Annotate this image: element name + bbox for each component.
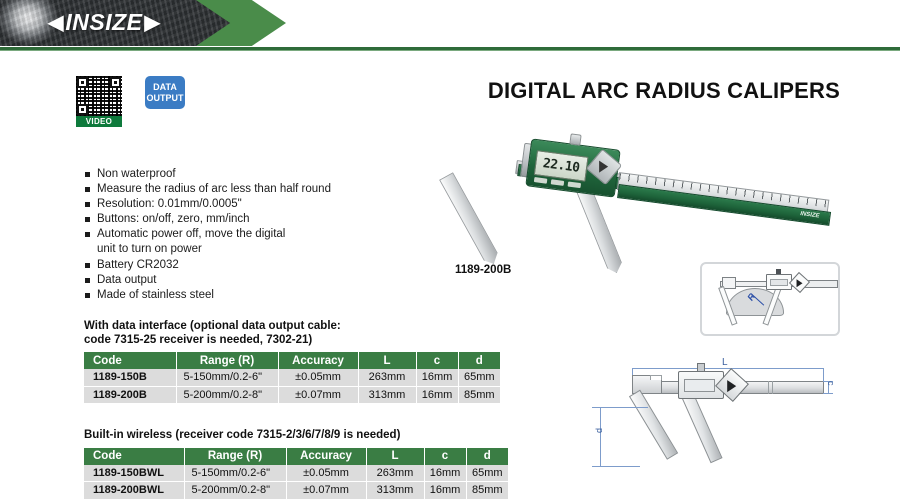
- cell-l: 313mm: [366, 482, 424, 499]
- caliper-button-unit: [568, 181, 582, 188]
- column-header-d: d: [466, 448, 508, 465]
- cell-code: 1189-150B: [84, 369, 176, 386]
- column-header-accuracy: Accuracy: [286, 448, 366, 465]
- cell-d: 85mm: [458, 386, 500, 403]
- spec-table: Code Range (R) Accuracy L c d 1189-150B …: [84, 352, 500, 403]
- logo-arrow-left-icon: ◀: [48, 13, 63, 33]
- data-output-line1: DATA: [153, 82, 177, 93]
- qr-video-label: VIDEO: [86, 118, 112, 126]
- cell-accuracy: ±0.05mm: [278, 369, 358, 386]
- column-header-c: c: [416, 352, 458, 369]
- caliper-lock-knob: [569, 133, 581, 145]
- qr-code-icon: [76, 76, 122, 116]
- column-header-range: Range (R): [184, 448, 286, 465]
- logo-arrow-right-icon: ▶: [145, 13, 160, 33]
- cell-code: 1189-200B: [84, 386, 176, 403]
- dim-jaw-left: [629, 390, 678, 460]
- spec-table: Code Range (R) Accuracy L c d 1189-150BW…: [84, 448, 508, 499]
- data-output-badge: DATA OUTPUT: [145, 76, 185, 109]
- caliper-button-zero: [551, 179, 565, 186]
- column-header-c: c: [424, 448, 466, 465]
- list-item: Non waterproof: [84, 167, 384, 182]
- cell-accuracy: ±0.07mm: [278, 386, 358, 403]
- cell-code: 1189-200BWL: [84, 482, 184, 499]
- list-item: Battery CR2032: [84, 258, 384, 273]
- cell-l: 313mm: [358, 386, 416, 403]
- cell-range: 5-150mm/0.2-6": [184, 465, 286, 482]
- usage-thumb-roller: [789, 272, 810, 293]
- column-header-d: d: [458, 352, 500, 369]
- dim-d-label: d: [594, 428, 604, 433]
- spec-table-block-data-interface: With data interface (optional data outpu…: [84, 320, 500, 403]
- table-caption: With data interface (optional data outpu…: [84, 320, 500, 347]
- cell-range: 5-200mm/0.2-8": [184, 482, 286, 499]
- table-header-row: Code Range (R) Accuracy L c d: [84, 352, 500, 369]
- list-item: Measure the radius of arc less than half…: [84, 182, 384, 197]
- cell-l: 263mm: [366, 465, 424, 482]
- cell-c: 16mm: [416, 386, 458, 403]
- cell-d: 65mm: [458, 369, 500, 386]
- cell-c: 16mm: [424, 482, 466, 499]
- dim-c-label: c: [826, 381, 836, 386]
- cell-range: 5-150mm/0.2-6": [176, 369, 278, 386]
- dim-jaw-right: [681, 390, 723, 463]
- badge-group: VIDEO DATA OUTPUT: [76, 76, 185, 127]
- caliper-jaw-left: [439, 172, 501, 267]
- qr-eye-bottom-left: [77, 104, 88, 115]
- cell-range: 5-200mm/0.2-8": [176, 386, 278, 403]
- column-header-range: Range (R): [176, 352, 278, 369]
- usage-lock-knob: [776, 269, 781, 274]
- list-item: Made of stainless steel: [84, 288, 384, 303]
- list-item: Resolution: 0.01mm/0.0005": [84, 197, 384, 212]
- list-item: Data output: [84, 273, 384, 288]
- table-caption: Built-in wireless (receiver code 7315-2/…: [84, 429, 508, 443]
- column-header-accuracy: Accuracy: [278, 352, 358, 369]
- dim-d-tick-top: [592, 407, 648, 408]
- page-title: DIGITAL ARC RADIUS CALIPERS: [488, 78, 840, 104]
- table-row: 1189-200BWL 5-200mm/0.2-8" ±0.07mm 313mm…: [84, 482, 508, 499]
- qr-video-label-bar: VIDEO: [76, 116, 122, 127]
- spec-table-block-wireless: Built-in wireless (receiver code 7315-2/…: [84, 429, 508, 499]
- table-row: 1189-200B 5-200mm/0.2-8" ±0.07mm 313mm 1…: [84, 386, 500, 403]
- cell-c: 16mm: [416, 369, 458, 386]
- dim-d-tick-bottom: [592, 466, 640, 467]
- feature-list: Non waterproof Measure the radius of arc…: [84, 167, 384, 303]
- dim-l-line: [632, 368, 824, 369]
- caliper-button-onoff: [534, 177, 548, 184]
- cell-accuracy: ±0.07mm: [286, 482, 366, 499]
- table-row: 1189-150B 5-150mm/0.2-6" ±0.05mm 263mm 1…: [84, 369, 500, 386]
- dim-head-notch: [650, 375, 662, 380]
- banner-rule-thin: [0, 50, 900, 51]
- table-header-row: Code Range (R) Accuracy L c d: [84, 448, 508, 465]
- list-item: Buttons: on/off, zero, mm/inch: [84, 212, 384, 227]
- cell-l: 263mm: [358, 369, 416, 386]
- column-header-l: L: [366, 448, 424, 465]
- cell-accuracy: ±0.05mm: [286, 465, 366, 482]
- column-header-l: L: [358, 352, 416, 369]
- catalog-page: ◀ INSIZE ▶ VIDEO DATA OUTPUT Non waterpr…: [0, 0, 900, 500]
- dim-lock-knob: [697, 363, 705, 372]
- dim-d-line: [600, 407, 601, 467]
- lcd-reading: 22.10: [542, 156, 580, 176]
- product-photo-caption: 1189-200B: [455, 264, 511, 276]
- dim-l-label: L: [722, 357, 728, 368]
- column-header-code: Code: [84, 352, 176, 369]
- dim-beam-seam-1: [768, 381, 769, 394]
- qr-eye-top-left: [77, 77, 88, 88]
- video-qr-badge[interactable]: VIDEO: [76, 76, 122, 127]
- dim-beam-seam-2: [772, 381, 773, 394]
- data-output-line2: OUTPUT: [147, 93, 184, 104]
- table-row: 1189-150BWL 5-150mm/0.2-6" ±0.05mm 263mm…: [84, 465, 508, 482]
- cell-d: 65mm: [466, 465, 508, 482]
- list-item-continuation: unit to turn on power: [84, 242, 384, 257]
- insize-logo: ◀ INSIZE ▶: [48, 11, 160, 34]
- dimension-drawing: L c d: [592, 345, 892, 500]
- usage-diagram: R: [700, 262, 840, 336]
- list-item: Automatic power off, move the digital: [84, 227, 384, 242]
- cell-d: 85mm: [466, 482, 508, 499]
- cell-c: 16mm: [424, 465, 466, 482]
- page-banner: ◀ INSIZE ▶: [0, 0, 900, 46]
- dim-c-tick-bottom: [823, 393, 833, 394]
- qr-eye-top-right: [110, 77, 121, 88]
- logo-wordmark: INSIZE: [65, 11, 142, 34]
- caliper-lcd-screen: 22.10: [534, 150, 589, 182]
- column-header-code: Code: [84, 448, 184, 465]
- cell-code: 1189-150BWL: [84, 465, 184, 482]
- product-photo: 22.10: [398, 128, 868, 268]
